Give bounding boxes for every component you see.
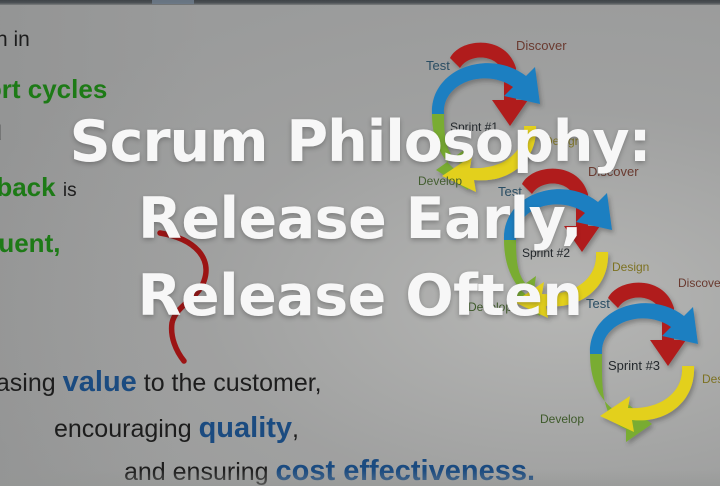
title-line-3: Release Often	[0, 258, 720, 335]
slide-text-value-tail: to the customer,	[144, 369, 322, 397]
bottom-shade	[0, 470, 720, 486]
cycle-3-label-develop: Develop	[540, 412, 584, 426]
slide-text-quality-highlight: quality	[199, 412, 292, 444]
title-line-1: Scrum Philosophy:	[0, 104, 720, 181]
title-line-2: Release Early,	[0, 181, 720, 258]
slide-text-quality-line: encouraging quality,	[54, 412, 299, 445]
title-overlay: Scrum Philosophy: Release Early, Release…	[0, 104, 720, 335]
slide-text-quality-tail: ,	[292, 415, 299, 443]
slide-text-short-cycles: hort cycles	[0, 74, 107, 105]
cycle-1-label-test: Test	[426, 58, 450, 73]
slide-text-value-highlight: value	[63, 366, 137, 398]
slide-text-value-line: easing value to the customer,	[0, 366, 322, 399]
cycle-3-label-design: Design	[702, 372, 720, 386]
top-highlight-strip	[152, 0, 194, 4]
cycle-1-label-discover: Discover	[516, 38, 567, 53]
video-frame: Discover Test Sprint #1 Develop Design D…	[0, 0, 720, 486]
slide-text-quality-lead: encouraging	[54, 415, 192, 443]
top-letterbox-bar	[0, 0, 720, 5]
cycle-3-label-sprint: Sprint #3	[608, 358, 660, 373]
slide-text-value-lead: easing	[0, 369, 56, 397]
slide-text-line-in: n in	[0, 28, 30, 52]
